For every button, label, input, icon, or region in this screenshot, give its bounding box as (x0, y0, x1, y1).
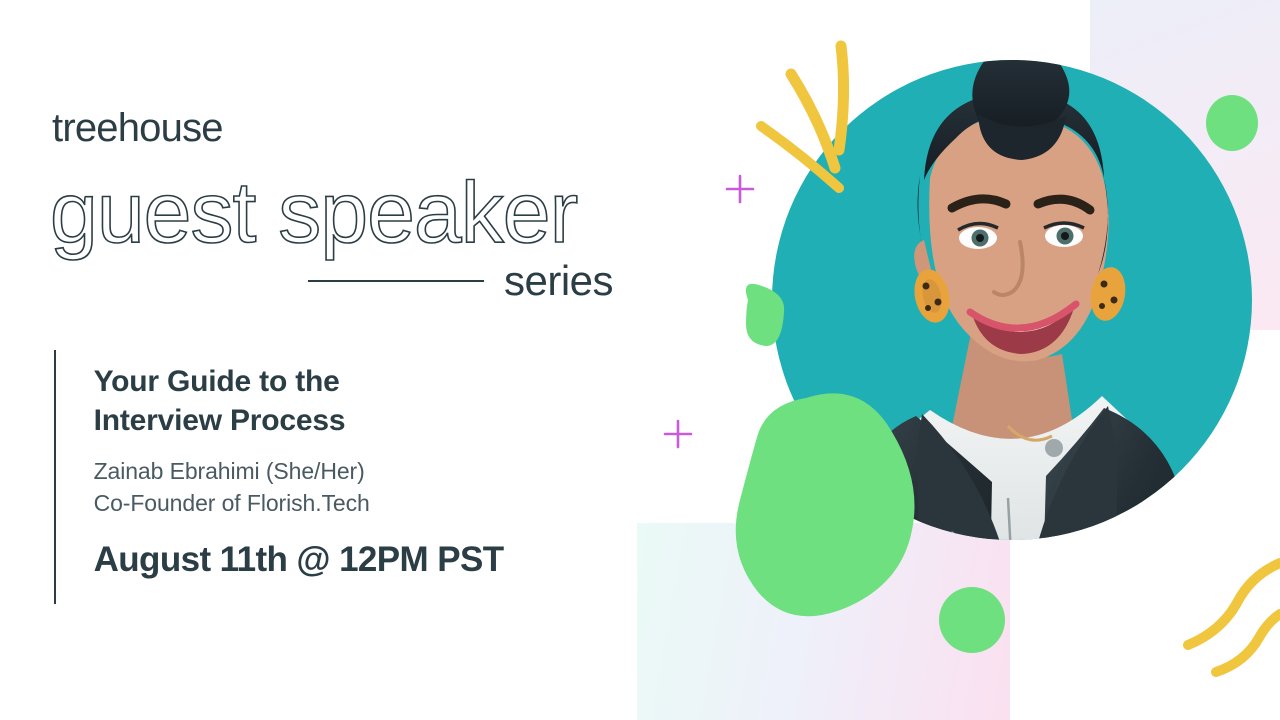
guest-speaker-headline: guest speaker (50, 158, 690, 268)
session-info-body: Your Guide to the Interview Process Zain… (56, 350, 504, 604)
series-row: series (308, 255, 688, 307)
session-title: Your Guide to the Interview Process (94, 362, 504, 441)
session-datetime: August 11th @ 12PM PST (94, 542, 504, 577)
guest-speaker-headline-text: guest speaker (50, 165, 578, 261)
treehouse-wordmark: treehouse (52, 108, 223, 148)
session-info-block: Your Guide to the Interview Process Zain… (54, 350, 654, 604)
speaker-credit: Zainab Ebrahimi (She/Her) Co-Founder of … (94, 455, 504, 520)
speaker-portrait (812, 28, 1232, 688)
speaker-name: Zainab Ebrahimi (She/Her) (94, 455, 504, 488)
session-title-line2: Interview Process (94, 401, 504, 440)
promo-graphic: treehouse guest speaker series Your Guid… (0, 0, 1280, 720)
series-label: series (504, 260, 613, 302)
text-column: treehouse guest speaker series Your Guid… (50, 0, 690, 720)
session-title-line1: Your Guide to the (94, 362, 504, 401)
speaker-role: Co-Founder of Florish.Tech (94, 487, 504, 520)
series-divider-rule (308, 280, 484, 282)
